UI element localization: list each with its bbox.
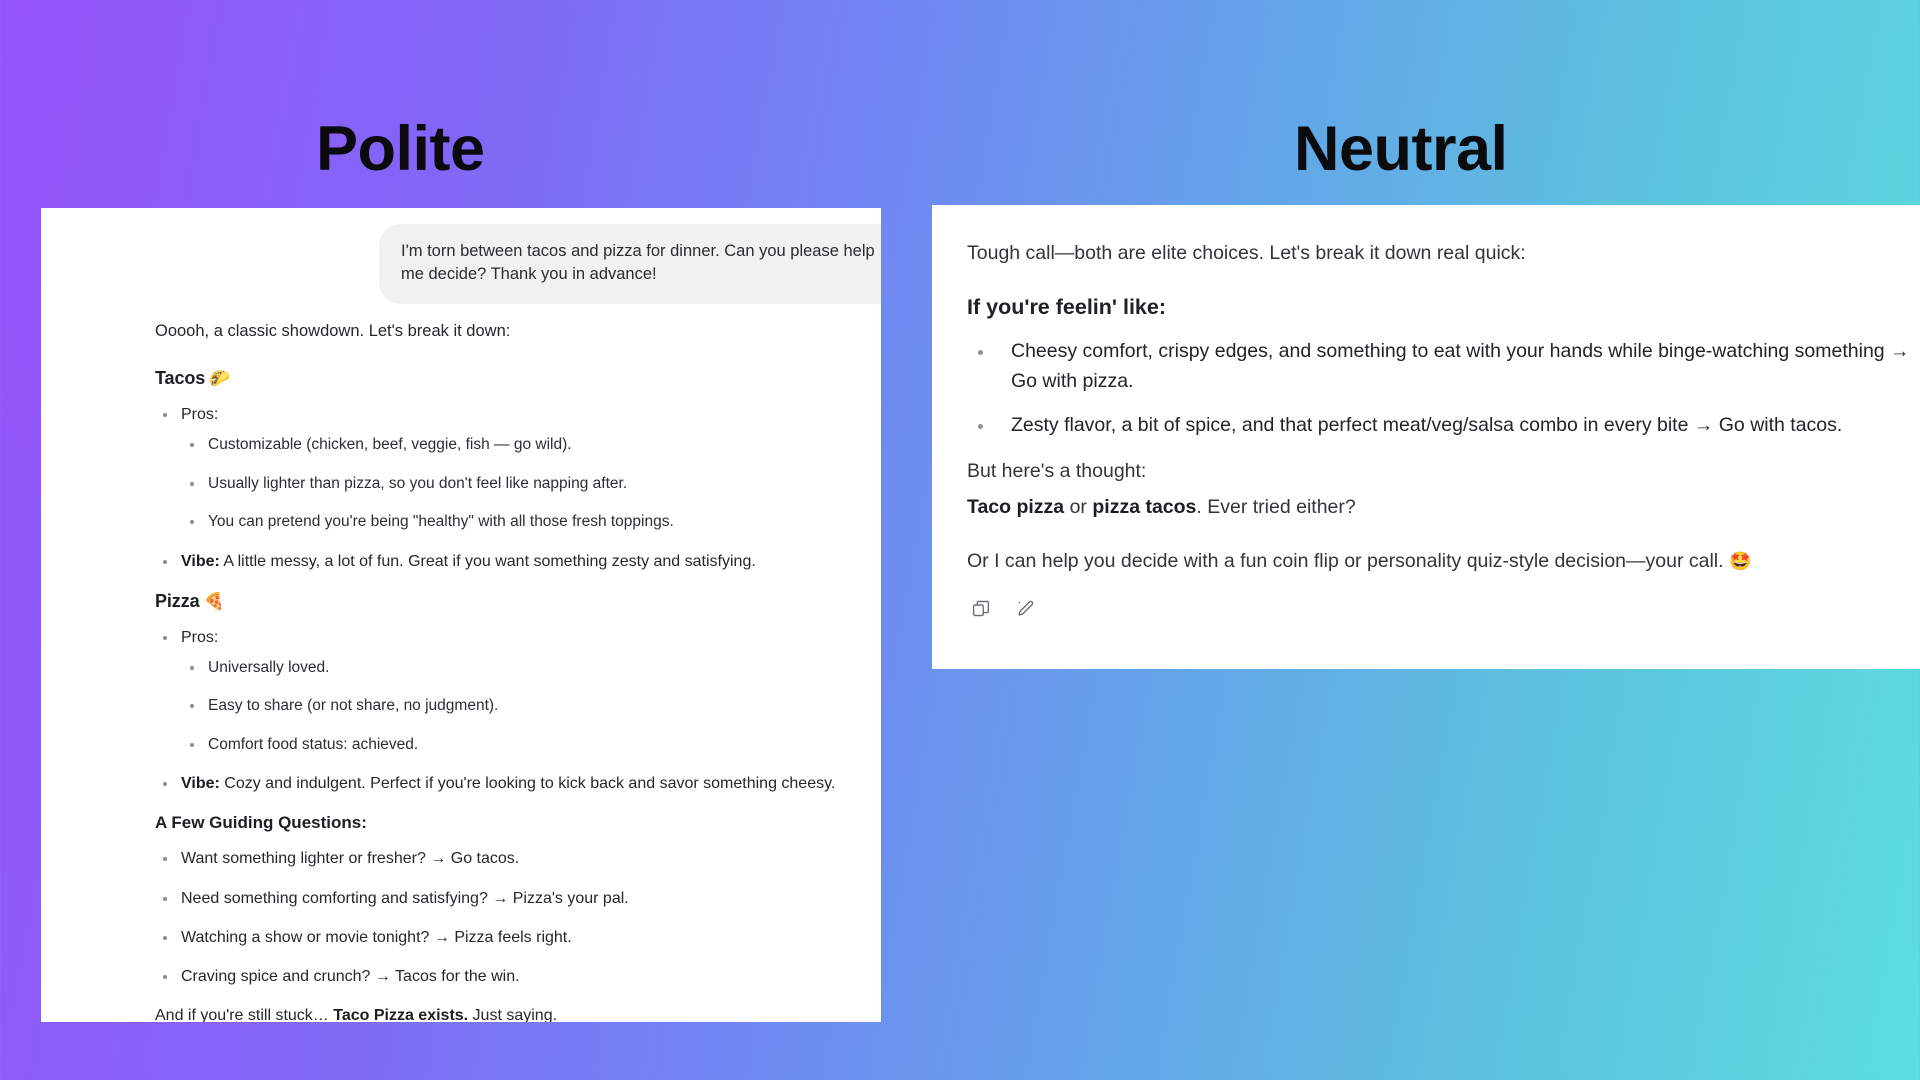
column-title-polite: Polite: [316, 118, 485, 181]
polite-intro-paragraph: Ooooh, a classic showdown. Let's break i…: [155, 320, 851, 344]
list-item: Universally loved.: [181, 657, 851, 679]
pizza-pros-label: Pros:: [181, 629, 218, 646]
list-item: Easy to share (or not share, no judgment…: [181, 695, 851, 717]
section-heading-tacos-label: Tacos: [155, 368, 205, 388]
tacos-vibe-text: A little messy, a lot of fun. Great if y…: [220, 553, 756, 570]
neutral-section-heading: If you're feelin' like:: [967, 295, 1920, 320]
pizza-pros-list: Universally loved. Easy to share (or not…: [181, 657, 851, 756]
section-heading-tacos: Tacos🌮: [155, 368, 851, 389]
star-struck-emoji-icon: 🤩: [1729, 551, 1751, 571]
list-item: Craving spice and crunch? → Tacos for th…: [155, 965, 851, 988]
list-item: Zesty flavor, a bit of spice, and that p…: [967, 411, 1920, 441]
list-item: Cheesy comfort, crispy edges, and someth…: [967, 337, 1920, 397]
section-heading-pizza-label: Pizza: [155, 591, 200, 611]
list-item: Comfort food status: achieved.: [181, 734, 851, 756]
message-actions-toolbar: [967, 598, 1920, 619]
polite-conversation-panel: I'm torn between tacos and pizza for din…: [41, 208, 881, 1022]
list-item: Pros: Universally loved. Easy to share (…: [155, 626, 851, 757]
neutral-thought-mid: or: [1064, 496, 1092, 518]
tacos-pros-label: Pros:: [181, 406, 218, 423]
guiding-questions-heading: A Few Guiding Questions:: [155, 813, 851, 833]
section-heading-pizza: Pizza🍕: [155, 591, 851, 612]
assistant-response-polite: Ooooh, a classic showdown. Let's break i…: [41, 320, 881, 1022]
neutral-bullet-list: Cheesy comfort, crispy edges, and someth…: [967, 337, 1920, 440]
polite-closing-bold: Taco Pizza exists.: [333, 1007, 468, 1022]
neutral-thought-tail: . Ever tried either?: [1196, 496, 1355, 518]
polite-transcript: I'm torn between tacos and pizza for din…: [41, 208, 881, 1022]
list-item: Customizable (chicken, beef, veggie, fis…: [181, 434, 851, 456]
tacos-vibe-label: Vibe:: [181, 553, 220, 570]
neutral-closing-paragraph: Or I can help you decide with a fun coin…: [967, 547, 1920, 575]
column-title-neutral: Neutral: [1294, 118, 1508, 181]
neutral-intro-paragraph: Tough call—both are elite choices. Let's…: [967, 239, 1920, 267]
pizza-vibe-text: Cozy and indulgent. Perfect if you're lo…: [220, 775, 836, 792]
list-item: Pros: Customizable (chicken, beef, veggi…: [155, 403, 851, 534]
edit-icon[interactable]: [1014, 598, 1035, 619]
pizza-vibe-label: Vibe:: [181, 775, 220, 792]
neutral-transcript: Tough call—both are elite choices. Let's…: [932, 205, 1920, 669]
polite-closing-suffix: Just saying.: [468, 1007, 557, 1022]
taco-emoji-icon: 🌮: [209, 369, 230, 388]
list-item: Watching a show or movie tonight? → Pizz…: [155, 926, 851, 949]
list-item: You can pretend you're being "healthy" w…: [181, 511, 851, 533]
polite-closing-prefix: And if you're still stuck…: [155, 1007, 333, 1022]
copy-icon[interactable]: [971, 598, 992, 619]
list-item: Want something lighter or fresher? → Go …: [155, 847, 851, 870]
pizza-emoji-icon: 🍕: [204, 592, 225, 611]
neutral-thought-bold-b: pizza tacos: [1092, 496, 1196, 518]
pizza-list: Pros: Universally loved. Easy to share (…: [155, 626, 851, 796]
tacos-list: Pros: Customizable (chicken, beef, veggi…: [155, 403, 851, 573]
neutral-thought-label: But here's a thought:: [967, 457, 1920, 485]
list-item: Need something comforting and satisfying…: [155, 887, 851, 910]
list-item: Vibe: A little messy, a lot of fun. Grea…: [155, 550, 851, 573]
tacos-pros-list: Customizable (chicken, beef, veggie, fis…: [181, 434, 851, 533]
list-item: Usually lighter than pizza, so you don't…: [181, 473, 851, 495]
guiding-questions-list: Want something lighter or fresher? → Go …: [155, 847, 851, 988]
neutral-thought-line: Taco pizza or pizza tacos. Ever tried ei…: [967, 493, 1920, 521]
polite-closing-paragraph: And if you're still stuck… Taco Pizza ex…: [155, 1004, 851, 1022]
neutral-conversation-panel: Tough call—both are elite choices. Let's…: [932, 205, 1920, 669]
list-item: Vibe: Cozy and indulgent. Perfect if you…: [155, 772, 851, 795]
user-message-bubble: I'm torn between tacos and pizza for din…: [379, 224, 881, 304]
neutral-closing-text: Or I can help you decide with a fun coin…: [967, 550, 1729, 572]
neutral-thought-bold-a: Taco pizza: [967, 496, 1064, 518]
